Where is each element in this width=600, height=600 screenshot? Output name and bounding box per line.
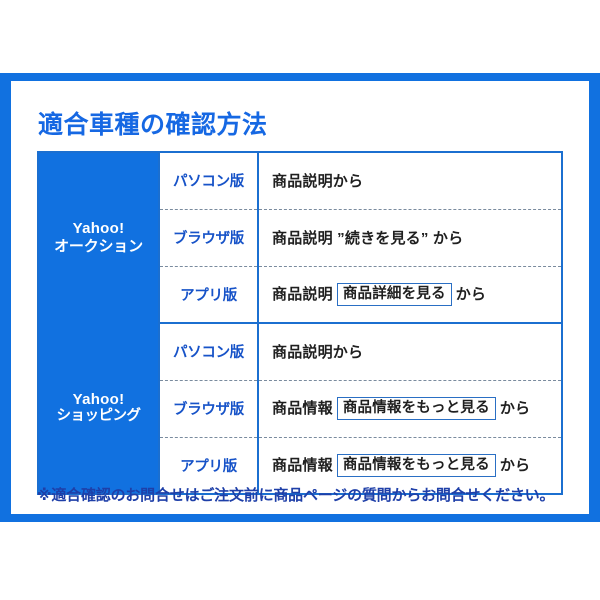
description-text-pre: 商品情報	[272, 457, 333, 474]
description-text-pre: 商品説明から	[272, 173, 363, 190]
description-cell: 商品説明から	[258, 323, 562, 380]
confirmation-method-table: Yahoo! オークション パソコン版 商品説明から ブラウザ版 商品説明 ”続…	[37, 151, 563, 495]
table-row: Yahoo! ショッピング パソコン版 商品説明から	[38, 323, 562, 380]
platform-label: ブラウザ版	[159, 380, 258, 437]
info-card: 適合車種の確認方法 Yahoo! オークション パソコン版 商品説明から ブラウ…	[11, 81, 589, 514]
description-text-post: から	[456, 286, 486, 303]
description-cell: 商品説明商品詳細を見るから	[258, 266, 562, 323]
description-text-pre: 商品説明	[272, 286, 333, 303]
brand-name-top: Yahoo!	[39, 220, 158, 238]
ui-button-reference[interactable]: 商品情報をもっと見る	[337, 454, 496, 477]
ui-button-reference[interactable]: 商品情報をもっと見る	[337, 397, 496, 420]
brand-name-top: Yahoo!	[39, 391, 158, 409]
page-title: 適合車種の確認方法	[38, 105, 268, 141]
description-text-post: から	[500, 457, 530, 474]
brand-name-bottom: ショッピング	[39, 408, 158, 425]
description-text-pre: 商品説明 ”続きを見る” から	[272, 230, 463, 247]
description-text-pre: 商品情報	[272, 400, 333, 417]
brand-cell-auction: Yahoo! オークション	[38, 152, 159, 323]
description-cell: 商品説明 ”続きを見る” から	[258, 209, 562, 266]
description-text-post: から	[500, 400, 530, 417]
footer-note: ※適合確認のお問合せはご注文前に商品ページの質問からお問合せください。	[37, 484, 554, 505]
brand-name-bottom: オークション	[39, 238, 158, 256]
ui-button-reference[interactable]: 商品詳細を見る	[337, 283, 452, 306]
description-cell: 商品情報商品情報をもっと見るから	[258, 380, 562, 437]
platform-label: アプリ版	[159, 266, 258, 323]
description-cell: 商品説明から	[258, 152, 562, 209]
platform-label: ブラウザ版	[159, 209, 258, 266]
table-row: Yahoo! オークション パソコン版 商品説明から	[38, 152, 562, 209]
platform-label: パソコン版	[159, 152, 258, 209]
brand-cell-shopping: Yahoo! ショッピング	[38, 323, 159, 494]
platform-label: パソコン版	[159, 323, 258, 380]
description-text-pre: 商品説明から	[272, 344, 363, 361]
blue-banner: 適合車種の確認方法 Yahoo! オークション パソコン版 商品説明から ブラウ…	[0, 73, 600, 522]
